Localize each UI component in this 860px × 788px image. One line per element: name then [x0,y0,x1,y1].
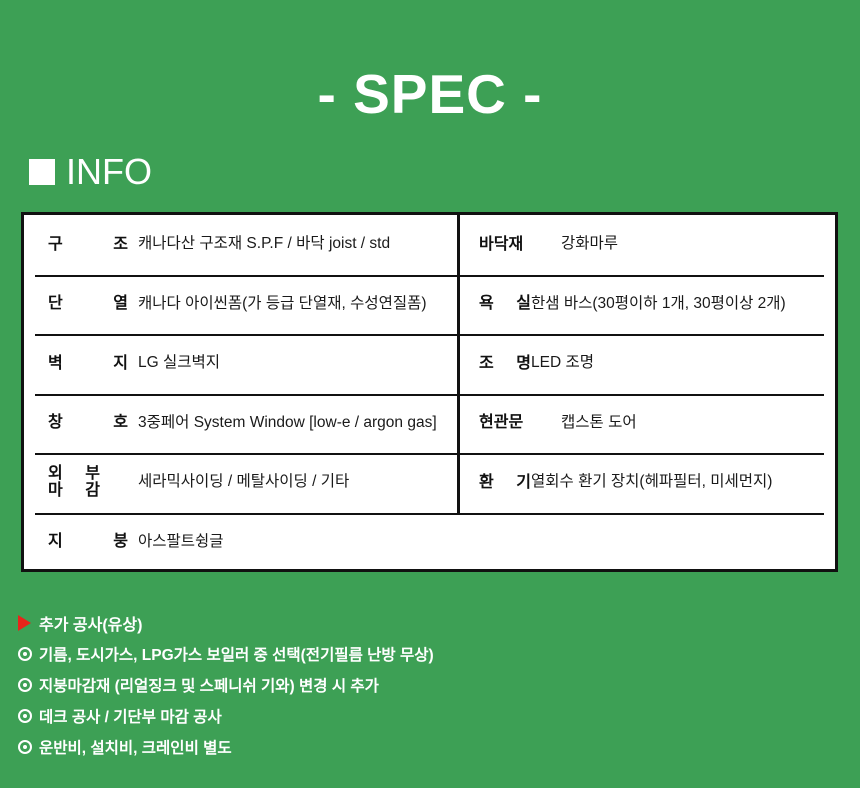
table-cell-flooring: 바닥재 강화마루 [457,215,835,275]
row-label: 구조 [48,236,128,254]
table-cell-bathroom: 욕실 한샘 바스(30평이하 1개, 30평이상 2개) [457,275,835,335]
table-cell-exterior-finish: 외부 마감 세라믹사이딩 / 메탈사이딩 / 기타 [24,453,457,513]
row-value: 한샘 바스(30평이하 1개, 30평이상 2개) [531,295,786,314]
table-cell-lighting: 조명 LED 조명 [457,334,835,394]
list-item-label: 운반비, 설치비, 크레인비 별도 [39,736,232,758]
row-label: 바닥재 [479,236,561,254]
notes-column-owner-work: 건축주 개별공사 경계측량 및 토목공사 바닥 콘크리트 타설 공사 정화조 공… [392,608,860,762]
row-label: 조명 [479,355,531,373]
info-section-heading: INFO [29,152,152,192]
row-value: LG 실크벽지 [138,354,220,373]
row-label: 환기 [479,474,531,492]
row-value: 캐나다산 구조재 S.P.F / 바닥 joist / std [138,235,390,254]
table-cell-insulation: 단열 캐나다 아이씬폼(가 등급 단열재, 수성연질폼) [24,275,457,335]
notes-column-additional-work: 추가 공사(유상) 기름, 도시가스, LPG가스 보일러 중 선택(전기필름 … [0,608,430,762]
list-item: 운반비, 설치비, 크레인비 별도 [18,731,430,762]
list-item-label: 기름, 도시가스, LPG가스 보일러 중 선택(전기필름 난방 무상) [39,643,434,665]
list-item-label: 지붕마감재 (리얼징크 및 스페니쉬 기와) 변경 시 추가 [39,674,379,696]
row-label: 현관문 [479,414,561,432]
table-cell-entrance-door: 현관문 캡스톤 도어 [457,394,835,454]
row-value: 열회수 환기 장치(헤파필터, 미세먼지) [531,473,772,492]
list-item-label: 데크 공사 / 기단부 마감 공사 [39,705,222,727]
red-triangle-icon [18,615,31,631]
row-value: 강화마루 [561,235,618,254]
double-circle-bullet-icon [18,740,32,754]
table-row: 벽지 LG 실크벽지 조명 LED 조명 [24,334,835,394]
table-row: 지붕 아스팔트슁글 [24,513,835,573]
row-label: 지붕 [48,533,128,551]
row-value: 캡스톤 도어 [561,414,637,433]
table-row: 단열 캐나다 아이씬폼(가 등급 단열재, 수성연질폼) 욕실 한샘 바스(30… [24,275,835,335]
white-square-icon [29,159,55,185]
row-value: 3중페어 System Window [low-e / argon gas] [138,414,437,433]
notes-heading-label: 추가 공사(유상) [39,611,142,635]
row-label: 외부 마감 [48,466,128,500]
page-title: - SPEC - [0,60,860,128]
row-value: 캐나다 아이씬폼(가 등급 단열재, 수성연질폼) [138,295,427,314]
spec-table-grid: 구조 캐나다산 구조재 S.P.F / 바닥 joist / std 바닥재 강… [24,215,835,569]
row-label: 단열 [48,295,128,313]
double-circle-bullet-icon [18,678,32,692]
list-item: 지붕마감재 (리얼징크 및 스페니쉬 기와) 변경 시 추가 [18,669,430,700]
table-cell-ventilation: 환기 열회수 환기 장치(헤파필터, 미세먼지) [457,453,835,513]
notes-section: 추가 공사(유상) 기름, 도시가스, LPG가스 보일러 중 선택(전기필름 … [0,608,860,762]
table-cell-roof: 지붕 아스팔트슁글 [24,513,835,573]
double-circle-bullet-icon [18,709,32,723]
info-section-label: INFO [66,152,152,192]
spec-table: 구조 캐나다산 구조재 S.P.F / 바닥 joist / std 바닥재 강… [21,212,838,572]
row-value: 아스팔트슁글 [138,533,224,552]
notes-heading-additional-work: 추가 공사(유상) [18,608,430,638]
table-cell-structure: 구조 캐나다산 구조재 S.P.F / 바닥 joist / std [24,215,457,275]
table-cell-windows: 창호 3중페어 System Window [low-e / argon gas… [24,394,457,454]
row-value: 세라믹사이딩 / 메탈사이딩 / 기타 [138,473,349,492]
row-label: 욕실 [479,295,531,313]
double-circle-bullet-icon [18,647,32,661]
list-item: 데크 공사 / 기단부 마감 공사 [18,700,430,731]
table-row: 외부 마감 세라믹사이딩 / 메탈사이딩 / 기타 환기 열회수 환기 장치(헤… [24,453,835,513]
table-row: 구조 캐나다산 구조재 S.P.F / 바닥 joist / std 바닥재 강… [24,215,835,275]
row-label: 벽지 [48,355,128,373]
list-item: 기름, 도시가스, LPG가스 보일러 중 선택(전기필름 난방 무상) [18,638,430,669]
row-value: LED 조명 [531,354,594,373]
row-label: 창호 [48,414,128,432]
table-row: 창호 3중페어 System Window [low-e / argon gas… [24,394,835,454]
table-cell-wallpaper: 벽지 LG 실크벽지 [24,334,457,394]
